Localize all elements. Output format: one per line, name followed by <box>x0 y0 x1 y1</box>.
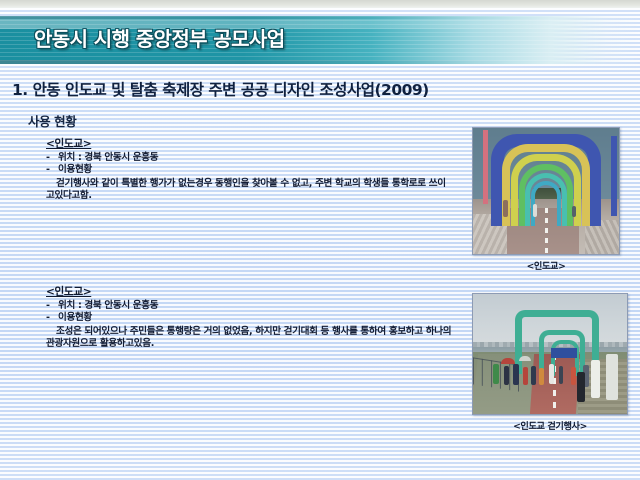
photo-pedestrian <box>539 368 544 385</box>
figure-caption: <인도교 걷기행사> <box>472 418 628 432</box>
bullet-label: 이용현황 <box>58 164 92 175</box>
figure-footbridge: <인도교> <box>472 127 620 272</box>
photo-right-rail <box>611 136 617 216</box>
photo-pedestrian <box>606 354 618 400</box>
photo-pedestrian <box>572 206 576 217</box>
photo-pedestrian <box>503 200 508 217</box>
photo-pedestrian <box>559 366 563 384</box>
block-paragraph: 걷기행사와 같이 특별한 행가가 없는경우 동행인을 찾아볼 수 없고, 주변 … <box>46 178 452 203</box>
block-paragraph: 조성은 되어있으나 주민들은 통행량은 거의 없었음, 하지만 걷기대회 등 행… <box>46 326 452 351</box>
photo-pedestrian <box>493 364 499 384</box>
bullet-label: 이용현황 <box>58 312 92 323</box>
bullet-dash: - <box>46 164 58 177</box>
photo-pedestrian <box>504 366 509 385</box>
bullet-label: 위치 : 경북 안동시 운흥동 <box>58 300 158 311</box>
figure-caption: <인도교> <box>472 258 620 272</box>
bullet-item: -위치 : 경북 안동시 운흥동 <box>46 300 452 313</box>
bullet-label: 위치 : 경북 안동시 운흥동 <box>58 152 158 163</box>
bullet-item: -이용현황 <box>46 164 452 177</box>
photo-pedestrian <box>591 360 600 398</box>
photo-pedestrian <box>513 364 519 385</box>
bullet-dash: - <box>46 312 58 325</box>
figure-image-footbridge <box>472 127 620 255</box>
photo-pedestrian <box>577 372 585 402</box>
photo-pedestrian <box>549 364 554 384</box>
photo-pedestrian <box>571 367 576 385</box>
bullet-dash: - <box>46 152 58 165</box>
section-heading: 1. 안동 인도교 및 탈춤 축제장 주변 공공 디자인 조성사업(2009) <box>12 78 429 100</box>
bullet-dash: - <box>46 300 58 313</box>
photo-blue-banner <box>551 348 577 358</box>
photo-pedestrian <box>533 204 537 217</box>
bullet-item: -이용현황 <box>46 312 452 325</box>
block-title: <인도교> <box>46 286 452 299</box>
photo-pedestrian <box>531 366 536 385</box>
figure-walking-event: <인도교 걷기행사> <box>472 293 628 432</box>
sub-heading: 사용 현황 <box>28 111 76 130</box>
presentation-slide: 안동시 시행 중앙정부 공모사업 1. 안동 인도교 및 탈춤 축제장 주변 공… <box>0 0 640 480</box>
photo-pink-post <box>483 130 488 204</box>
title-band-bottom-shadow <box>0 60 640 64</box>
slide-top-strip <box>0 0 640 8</box>
content-block-1: <인도교> -위치 : 경북 안동시 운흥동 -이용현황 걷기행사와 같이 특별… <box>46 138 452 203</box>
photo-umbrella <box>519 356 531 361</box>
photo-umbrella <box>501 358 515 364</box>
content-block-2: <인도교> -위치 : 경북 안동시 운흥동 -이용현황 조성은 되어있으나 주… <box>46 286 452 351</box>
slide-title: 안동시 시행 중앙정부 공모사업 <box>34 23 285 52</box>
figure-image-walking-event <box>472 293 628 415</box>
block-title: <인도교> <box>46 138 452 151</box>
photo-pedestrian <box>523 367 528 385</box>
bullet-item: -위치 : 경북 안동시 운흥동 <box>46 152 452 165</box>
